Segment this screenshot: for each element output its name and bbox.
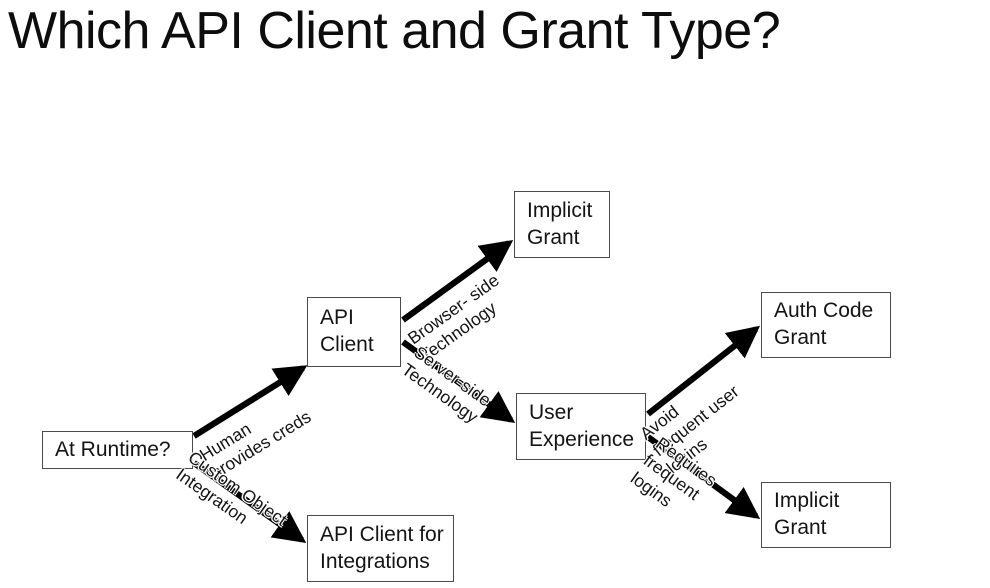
node-line: API (320, 305, 388, 332)
arrow-apiclient-to-userexperience (403, 342, 511, 420)
arrow-ux-to-implicit-bottom (648, 437, 756, 516)
node-line: User (529, 400, 633, 427)
node-implicit-grant-top[interactable]: Implicit Grant (514, 191, 610, 258)
node-line: Integrations (320, 549, 441, 576)
node-user-experience[interactable]: User Experience (516, 393, 646, 460)
node-auth-code-grant[interactable]: Auth Code Grant (761, 292, 891, 358)
node-line: Grant (527, 225, 597, 252)
arrow-runtime-to-apiclient (194, 368, 303, 436)
node-api-client-for-integrations[interactable]: API Client for Integrations (307, 515, 454, 582)
node-line: Implicit (527, 198, 597, 225)
node-line: Grant (774, 515, 878, 542)
arrow-runtime-to-integrations (194, 463, 302, 540)
node-line: At Runtime? (55, 437, 180, 464)
node-line: Grant (774, 325, 878, 352)
node-line: Implicit (774, 488, 878, 515)
slide-canvas: Which API Client and Grant Type? At Runt… (0, 0, 990, 588)
node-line: Auth Code (774, 298, 878, 325)
arrow-apiclient-to-implicit-top (403, 243, 509, 320)
node-line: Client (320, 332, 388, 359)
node-at-runtime[interactable]: At Runtime? (42, 431, 193, 469)
node-implicit-grant-bottom[interactable]: Implicit Grant (761, 482, 891, 548)
node-line: Experience (529, 427, 633, 454)
node-api-client[interactable]: API Client (307, 297, 401, 367)
arrow-ux-to-authcode (648, 329, 756, 414)
node-line: API Client for (320, 522, 441, 549)
